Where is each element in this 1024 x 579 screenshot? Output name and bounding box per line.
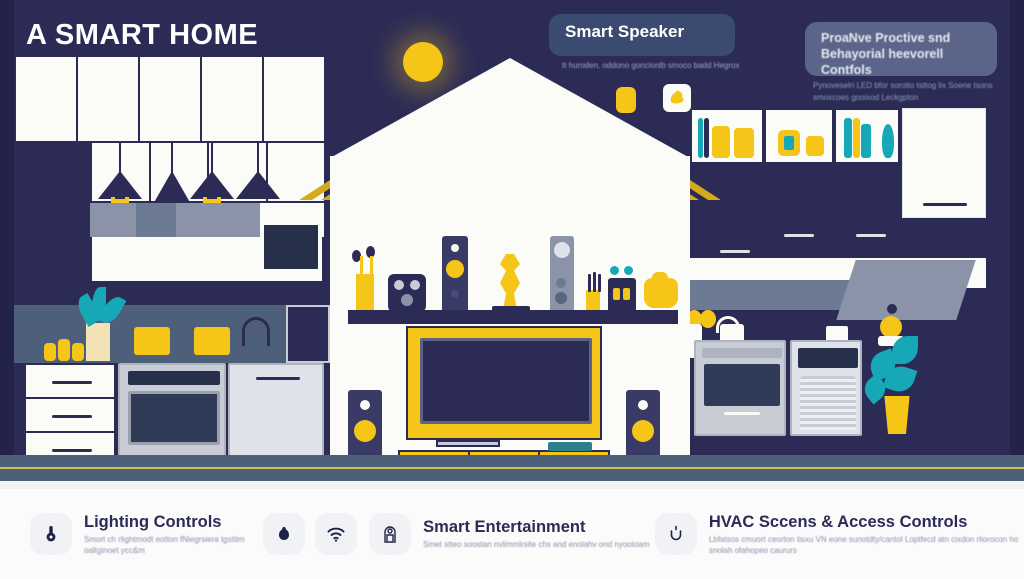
wifi-icon[interactable]	[315, 513, 357, 555]
faucet	[242, 317, 270, 346]
lamp-cord	[211, 141, 213, 173]
drawer-handle	[52, 381, 92, 384]
drawer-handle	[52, 415, 92, 418]
lock-icon[interactable]	[263, 513, 305, 555]
upper-cabinet-row	[14, 55, 324, 143]
yellow-jar	[44, 343, 56, 361]
speaker-tweeter	[451, 244, 459, 252]
speaker-port	[451, 290, 459, 298]
feature-smart-entertainment[interactable]: Smart Entertainment Smet stteo soostan n…	[367, 513, 655, 555]
callout-subtitle: It huroden, oddono gonclonlb smoco badd …	[562, 60, 742, 72]
feature-title: HVAC Sccens & Access Controls	[709, 512, 1024, 532]
floor-band	[0, 455, 1024, 467]
feature-lighting-controls[interactable]: Lighting Controls Smort ch rlightmodt eo…	[0, 512, 263, 557]
bookshelf-speaker	[442, 236, 468, 312]
plant-pot	[86, 323, 110, 361]
lamp-shade	[236, 171, 280, 199]
yellow-teapot	[644, 278, 678, 308]
navy-canister	[608, 278, 636, 312]
speaker-woofer	[354, 420, 376, 442]
oven-control-panel	[128, 371, 220, 385]
television-screen	[420, 338, 592, 424]
icon-group-wifi	[315, 513, 367, 555]
speaker-button	[555, 292, 567, 304]
camera-body	[401, 294, 413, 306]
page-title: A SMART HOME	[26, 19, 258, 52]
feature-title: Lighting Controls	[84, 512, 263, 532]
yellow-bowl	[806, 136, 824, 156]
open-shelf	[834, 108, 900, 164]
built-in-oven	[118, 363, 226, 467]
callout-title: ProaNve Proctive snd Behayorial heevorel…	[821, 30, 981, 78]
teal-book	[844, 118, 852, 158]
left-wall-rail	[0, 0, 14, 489]
cabinet-handle	[856, 234, 886, 237]
dishwasher-handle	[256, 377, 300, 380]
cabinet-handle	[720, 250, 750, 253]
lamp-knob	[887, 304, 897, 314]
door-speaker-icon[interactable]	[369, 513, 411, 555]
smart-device-tile[interactable]	[616, 87, 636, 113]
thermometer-icon[interactable]	[30, 513, 72, 555]
callout-proactive-controls[interactable]: ProaNve Proctive snd Behayorial heevorel…	[805, 22, 997, 76]
tv-stand	[436, 440, 500, 447]
house-cutaway	[300, 60, 720, 489]
plant-leaf	[892, 336, 918, 364]
soundbar	[548, 442, 592, 451]
power-icon[interactable]	[655, 513, 697, 555]
callout-title: Smart Speaker	[565, 22, 719, 42]
speaker-tweeter	[638, 400, 648, 410]
pen	[593, 272, 596, 292]
oven-handle	[724, 412, 760, 415]
canister-accent	[623, 288, 630, 300]
yellow-pot	[134, 327, 170, 355]
teal-ball	[610, 266, 619, 275]
right-kitchen	[680, 100, 1010, 489]
yellow-book	[853, 118, 860, 158]
plant-pot	[882, 396, 912, 434]
cabinet-handle	[923, 203, 967, 206]
display-shelf	[348, 310, 678, 324]
cabinet-cell	[138, 55, 202, 143]
teal-ball	[624, 266, 633, 275]
speaker-tweeter	[360, 400, 370, 410]
cabinet-handle	[784, 234, 814, 237]
camera-lens	[410, 280, 420, 290]
cabinet-cell	[200, 55, 264, 143]
yellow-vase	[356, 274, 374, 312]
plant-stem	[370, 256, 373, 278]
speaker-woofer	[446, 260, 464, 278]
floor-edge	[0, 481, 1024, 489]
teal-accent	[784, 136, 794, 150]
feature-subtitle: Lbfatsos cmuort ceorton tisxu VN eone su…	[709, 534, 1024, 557]
pet-icon	[663, 84, 691, 112]
yellow-jar	[734, 128, 754, 158]
canister-accent	[613, 288, 620, 300]
feature-subtitle: Smet stteo soostan nvlimmlrsite chs and …	[423, 539, 649, 551]
dishwasher-grille	[800, 376, 856, 430]
icon-group-left	[263, 513, 315, 555]
smart-camera	[388, 274, 426, 312]
lamp-cord	[119, 141, 121, 173]
left-kitchen	[14, 55, 344, 489]
feature-subtitle: Smort ch rlightmodt eotton fNiegrsiera t…	[84, 534, 263, 557]
camera-lens	[394, 280, 404, 290]
feature-hvac-access-controls[interactable]: HVAC Sccens & Access Controls Lbfatsos c…	[655, 512, 1024, 557]
feature-text: Smart Entertainment Smet stteo soostan n…	[423, 517, 649, 551]
floor-band	[0, 469, 1024, 481]
counter-surface	[836, 260, 975, 320]
feature-text: Lighting Controls Smort ch rlightmodt eo…	[84, 512, 263, 557]
oven-door	[128, 391, 220, 445]
open-shelf	[764, 108, 834, 164]
dishwasher	[790, 340, 862, 436]
teal-vase	[882, 124, 894, 158]
teapot-lid	[652, 272, 668, 280]
lamp-cord	[171, 141, 173, 173]
drawer	[24, 397, 116, 433]
smart-device-tile[interactable]	[663, 84, 691, 112]
speaker-button	[556, 278, 566, 288]
tv-backboard	[406, 326, 602, 440]
dishwasher-control-panel	[798, 348, 858, 368]
pen-holder	[586, 290, 600, 312]
yellow-lamp	[880, 316, 902, 338]
callout-subtitle: Pynoveselri LED bfor sorotio tsttog lix …	[813, 80, 1003, 104]
cabinet-cell	[14, 55, 78, 143]
pen	[598, 274, 601, 292]
lamp-cord	[257, 141, 259, 173]
drawer	[24, 363, 116, 399]
smart-speaker-tower	[550, 236, 574, 312]
yellow-jar	[58, 339, 70, 361]
plant-stem	[360, 256, 363, 278]
counter-segment	[136, 203, 176, 237]
cabinet-cell	[76, 55, 140, 143]
drawer-handle	[52, 449, 92, 452]
infographic-canvas: A SMART HOME Smart Speaker It huroden, o…	[0, 0, 1024, 579]
feature-title: Smart Entertainment	[423, 517, 649, 537]
teal-bottle	[861, 124, 871, 158]
pen	[588, 274, 591, 292]
callout-smart-speaker[interactable]: Smart Speaker	[549, 14, 735, 56]
yellow-pot	[194, 327, 230, 355]
house-gable	[330, 58, 690, 158]
right-wall-rail	[1010, 0, 1024, 489]
feature-text: HVAC Sccens & Access Controls Lbfatsos c…	[709, 512, 1024, 557]
wall-cabinet	[902, 108, 986, 218]
speaker-top-light	[554, 242, 570, 258]
feature-bar: Lighting Controls Smort ch rlightmodt eo…	[0, 489, 1024, 579]
speaker-woofer	[632, 420, 654, 442]
yellow-jar	[72, 343, 84, 361]
